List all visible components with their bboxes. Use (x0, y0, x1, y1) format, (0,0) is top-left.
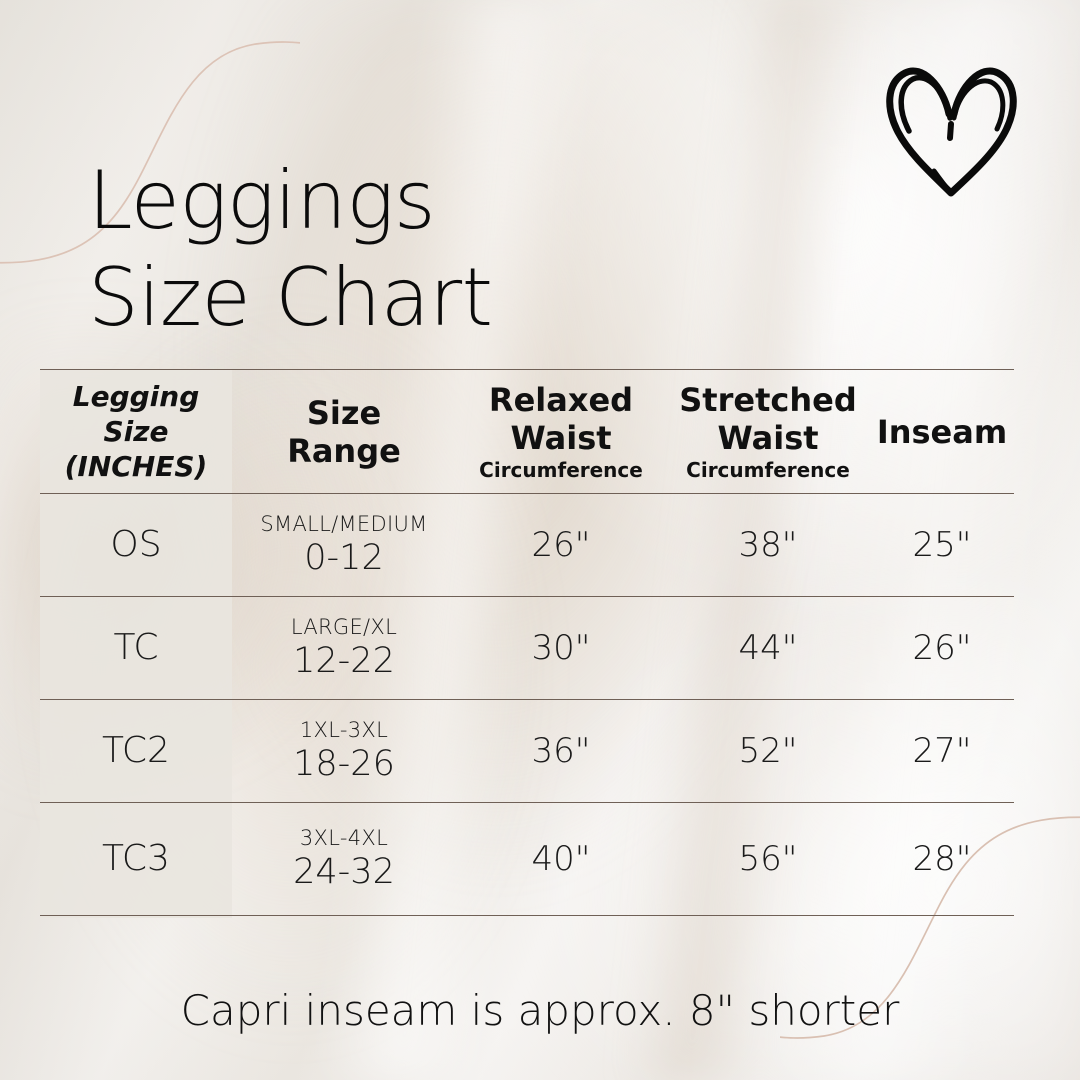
header-stretched-line1: Stretched (679, 381, 856, 419)
cell-stretched-waist: 56" (666, 839, 870, 879)
page-title: Leggings Size Chart (88, 152, 788, 346)
header-inseam-label: Inseam (877, 413, 1007, 451)
cell-inseam: 25" (870, 525, 1014, 565)
inseam-value: 28" (913, 839, 972, 879)
header-stretched-subtitle: Circumference (686, 458, 850, 482)
relaxed-waist-value: 36" (532, 731, 591, 771)
size-range-value: 12-22 (293, 641, 395, 682)
header-relaxed-line1: Relaxed (489, 381, 633, 419)
size-range-value: 24-32 (293, 852, 395, 893)
heart-doodle-icon (876, 52, 1026, 200)
size-range-label: LARGE/XL (291, 615, 397, 640)
size-chart-table: Legging Size (INCHES) Size Range Relaxed… (40, 369, 1014, 916)
header-size-range-line1: Size (307, 394, 381, 432)
relaxed-waist-value: 30" (532, 628, 591, 668)
title-line-1: Leggings (88, 152, 788, 249)
header-cell-size-range: Size Range (232, 394, 456, 470)
size-range-value: 18-26 (293, 744, 395, 785)
cell-size: TC (40, 627, 232, 669)
table-row: TC3 3XL-4XL 24-32 40" 56" 28" (40, 802, 1014, 916)
table-header-row: Legging Size (INCHES) Size Range Relaxed… (40, 369, 1014, 493)
size-value: TC2 (102, 730, 170, 772)
cell-size: OS (40, 524, 232, 566)
cell-inseam: 26" (870, 628, 1014, 668)
cell-inseam: 27" (870, 731, 1014, 771)
cell-relaxed-waist: 30" (456, 628, 666, 668)
cell-size: TC2 (40, 730, 232, 772)
header-cell-relaxed-waist: Relaxed Waist Circumference (456, 381, 666, 482)
inseam-value: 26" (913, 628, 972, 668)
inseam-value: 27" (913, 731, 972, 771)
table-row: OS SMALL/MEDIUM 0-12 26" 38" 25" (40, 493, 1014, 596)
cell-stretched-waist: 44" (666, 628, 870, 668)
title-line-2: Size Chart (88, 249, 788, 346)
size-range-value: 0-12 (304, 538, 383, 579)
cell-relaxed-waist: 36" (456, 731, 666, 771)
cell-inseam: 28" (870, 839, 1014, 879)
header-relaxed-line2: Waist (510, 419, 611, 457)
relaxed-waist-value: 26" (532, 525, 591, 565)
cell-size: TC3 (40, 838, 232, 880)
header-cell-legging-size: Legging Size (INCHES) (40, 379, 232, 484)
relaxed-waist-value: 40" (532, 839, 591, 879)
stretched-waist-value: 44" (739, 628, 798, 668)
size-range-label: 3XL-4XL (300, 826, 388, 851)
stretched-waist-value: 52" (739, 731, 798, 771)
size-value: OS (110, 524, 161, 566)
header-relaxed-subtitle: Circumference (479, 458, 643, 482)
header-stretched-line2: Waist (717, 419, 818, 457)
header-legging-size-line2: (INCHES) (65, 449, 208, 484)
stretched-waist-value: 38" (739, 525, 798, 565)
cell-relaxed-waist: 26" (456, 525, 666, 565)
stretched-waist-value: 56" (739, 839, 798, 879)
cell-size-range: 3XL-4XL 24-32 (232, 826, 456, 893)
size-range-label: SMALL/MEDIUM (260, 512, 427, 537)
header-cell-inseam: Inseam (870, 413, 1014, 451)
header-cell-stretched-waist: Stretched Waist Circumference (666, 381, 870, 482)
size-range-label: 1XL-3XL (300, 718, 388, 743)
header-legging-size-line1: Legging Size (40, 379, 232, 449)
cell-size-range: 1XL-3XL 18-26 (232, 718, 456, 785)
cell-stretched-waist: 38" (666, 525, 870, 565)
table-row: TC LARGE/XL 12-22 30" 44" 26" (40, 596, 1014, 699)
header-size-range-line2: Range (287, 432, 401, 470)
cell-stretched-waist: 52" (666, 731, 870, 771)
cell-size-range: LARGE/XL 12-22 (232, 615, 456, 682)
cell-size-range: SMALL/MEDIUM 0-12 (232, 512, 456, 579)
cell-relaxed-waist: 40" (456, 839, 666, 879)
size-chart-poster: Leggings Size Chart Legging Size (INCHES… (0, 0, 1080, 1080)
table-row: TC2 1XL-3XL 18-26 36" 52" 27" (40, 699, 1014, 802)
size-value: TC (113, 627, 158, 669)
capri-note: Capri inseam is approx. 8" shorter (0, 986, 1080, 1036)
size-value: TC3 (102, 838, 170, 880)
inseam-value: 25" (913, 525, 972, 565)
